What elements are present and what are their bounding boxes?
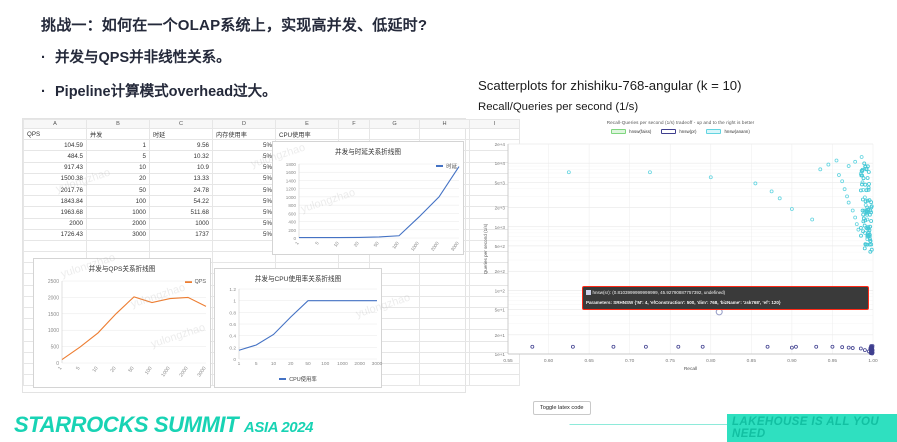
table-cell[interactable]: 5% xyxy=(213,140,276,151)
chart-cpu-legend-label: CPU使用率 xyxy=(289,375,317,383)
table-cell[interactable]: 5% xyxy=(213,151,276,162)
table-cell[interactable]: 54.22 xyxy=(150,196,213,207)
svg-text:10: 10 xyxy=(271,361,277,367)
empty-cell[interactable] xyxy=(420,263,470,274)
table-cell[interactable]: 2017.76 xyxy=(24,184,87,195)
svg-text:0.90: 0.90 xyxy=(787,358,797,364)
header-cell[interactable]: CPU使用率 xyxy=(276,129,339,140)
table-cell[interactable]: 5% xyxy=(213,162,276,173)
svg-text:1800: 1800 xyxy=(286,162,297,167)
table-cell[interactable]: 5% xyxy=(213,218,276,229)
svg-text:0.55: 0.55 xyxy=(503,358,513,364)
svg-text:1500: 1500 xyxy=(48,312,59,318)
empty-cell[interactable] xyxy=(420,330,470,341)
bullet-label-2: Pipeline计算模式overhead过大。 xyxy=(55,84,277,100)
svg-text:5: 5 xyxy=(75,366,82,372)
svg-text:20: 20 xyxy=(353,240,360,247)
svg-text:10: 10 xyxy=(92,366,100,374)
scatter-caption: Recall-Queries per second (1/s) tradeoff… xyxy=(478,120,883,125)
table-cell[interactable]: 5% xyxy=(213,229,276,240)
col-letter-e: E xyxy=(276,120,339,129)
svg-text:1200: 1200 xyxy=(286,187,297,192)
svg-text:50: 50 xyxy=(373,240,380,247)
col-letter-g: G xyxy=(370,120,420,129)
table-cell[interactable]: 917.43 xyxy=(24,162,87,173)
svg-text:1000: 1000 xyxy=(160,366,171,379)
footer-brand-main: STARROCKS SUMMIT xyxy=(14,412,238,437)
legend-swatch-icon xyxy=(611,129,626,134)
header-cell[interactable]: 内存使用率 xyxy=(213,129,276,140)
scatter-legend-item-1[interactable]: hnsw(pr) xyxy=(661,129,696,134)
scatterplot-panel: Scatterplots for zhishiku-768-angular (k… xyxy=(478,78,883,400)
table-cell[interactable]: 5% xyxy=(213,184,276,195)
svg-text:1.2: 1.2 xyxy=(229,287,236,293)
empty-cell[interactable] xyxy=(420,296,470,307)
chart-latency: 并发与时延关系折线图 时延 02004006008001000120014001… xyxy=(272,141,464,255)
svg-text:1: 1 xyxy=(238,361,241,367)
column-letter-row: A B C D E F G H I xyxy=(24,120,520,129)
svg-text:5: 5 xyxy=(314,240,320,245)
svg-text:0.8: 0.8 xyxy=(229,310,236,316)
svg-text:0.4: 0.4 xyxy=(229,334,236,340)
svg-text:0.70: 0.70 xyxy=(625,358,635,364)
empty-cell[interactable] xyxy=(420,375,470,386)
table-cell[interactable]: 484.5 xyxy=(24,151,87,162)
svg-text:100: 100 xyxy=(391,240,400,250)
svg-text:500: 500 xyxy=(51,345,60,351)
table-cell[interactable]: 1000 xyxy=(87,207,150,218)
footer-brand-sub: ASIA 2024 xyxy=(244,419,313,436)
svg-text:0.60: 0.60 xyxy=(544,358,554,364)
table-cell[interactable]: 5 xyxy=(87,151,150,162)
tooltip-line-2: Parameters: SRHNSW {'M': 4, 'efConstruct… xyxy=(586,298,865,308)
svg-text:3000: 3000 xyxy=(450,240,460,252)
svg-text:0.6: 0.6 xyxy=(229,322,236,328)
bullet-marker-icon: · xyxy=(41,84,55,100)
table-cell[interactable]: 10.32 xyxy=(150,151,213,162)
svg-text:5e+3: 5e+3 xyxy=(495,180,506,185)
table-cell[interactable]: 2000 xyxy=(87,218,150,229)
legend-swatch-icon xyxy=(706,129,721,134)
scatter-plot[interactable]: 2e+41e+45e+32e+31e+35e+22e+21e+25e+12e+1… xyxy=(478,138,883,378)
table-cell[interactable]: 10.9 xyxy=(150,162,213,173)
tooltip-line-1: hnsw(sr): (0.8103999999999999, 45.927908… xyxy=(586,288,865,298)
svg-text:800: 800 xyxy=(288,203,296,208)
header-cell[interactable]: QPS xyxy=(24,129,87,140)
bullet-item-2: ·Pipeline计算模式overhead过大。 xyxy=(41,80,277,101)
scatter-legend-item-2[interactable]: hnsw(anann) xyxy=(706,129,749,134)
empty-cell[interactable] xyxy=(420,341,470,352)
chart-qps-title: 并发与QPS关系折线图 xyxy=(34,263,210,273)
svg-text:0.80: 0.80 xyxy=(706,358,716,364)
svg-text:1: 1 xyxy=(294,240,300,245)
table-cell[interactable]: 10 xyxy=(87,162,150,173)
svg-text:2000: 2000 xyxy=(354,361,365,367)
table-cell[interactable]: 5% xyxy=(213,196,276,207)
svg-text:2500: 2500 xyxy=(48,279,59,285)
chart-cpu: 并发与CPU使用率关系折线图 00.20.40.60.811.215102050… xyxy=(214,268,382,388)
empty-cell[interactable] xyxy=(150,240,213,251)
svg-text:0.65: 0.65 xyxy=(584,358,594,364)
svg-text:1600: 1600 xyxy=(286,170,297,175)
table-cell[interactable]: 1 xyxy=(87,140,150,151)
empty-cell[interactable] xyxy=(420,308,470,319)
svg-text:Queries per second (1/s): Queries per second (1/s) xyxy=(483,223,488,274)
svg-text:2e+1: 2e+1 xyxy=(495,333,506,338)
svg-text:1e+3: 1e+3 xyxy=(495,225,506,230)
chart-cpu-plot: 00.20.40.60.811.215102050100100020003000 xyxy=(215,285,383,373)
svg-text:5e+2: 5e+2 xyxy=(495,244,506,249)
table-cell[interactable]: 50 xyxy=(87,184,150,195)
svg-text:1: 1 xyxy=(233,299,236,305)
svg-text:Recall: Recall xyxy=(684,366,697,372)
chart-latency-plot: 0200400600800100012001400160018001510205… xyxy=(273,160,465,252)
empty-cell[interactable] xyxy=(87,240,150,251)
svg-text:100: 100 xyxy=(321,361,329,367)
svg-text:2e+3: 2e+3 xyxy=(495,206,506,211)
tooltip-series: hnsw(sr): xyxy=(593,290,612,295)
table-cell[interactable]: 5% xyxy=(213,173,276,184)
scatter-legend-label-1: hnsw(pr) xyxy=(679,129,696,134)
svg-text:200: 200 xyxy=(288,228,296,233)
table-cell[interactable]: 5% xyxy=(213,207,276,218)
col-letter-d: D xyxy=(213,120,276,129)
table-cell[interactable]: 1500.38 xyxy=(24,173,87,184)
svg-text:2e+2: 2e+2 xyxy=(495,269,506,274)
col-letter-f: F xyxy=(339,120,370,129)
table-cell[interactable]: 1963.68 xyxy=(24,207,87,218)
table-cell[interactable]: 20 xyxy=(87,173,150,184)
svg-text:2000: 2000 xyxy=(48,295,59,301)
tooltip-point: (0.8103999999999999, 45.92790887757392, … xyxy=(612,290,725,295)
svg-text:3000: 3000 xyxy=(372,361,383,367)
svg-text:1000: 1000 xyxy=(286,195,297,200)
table-cell[interactable]: 13.33 xyxy=(150,173,213,184)
scatter-point[interactable] xyxy=(870,348,873,351)
table-cell[interactable]: 2000 xyxy=(24,218,87,229)
svg-text:2e+4: 2e+4 xyxy=(495,142,506,147)
col-letter-h: H xyxy=(420,120,470,129)
legend-swatch-icon xyxy=(661,129,676,134)
svg-text:2000: 2000 xyxy=(178,366,189,379)
empty-cell[interactable] xyxy=(339,129,370,140)
chart-qps: 并发与QPS关系折线图 QPS 050010001500200025001510… xyxy=(33,258,211,388)
svg-text:50: 50 xyxy=(128,366,136,374)
svg-text:100: 100 xyxy=(144,366,154,376)
empty-cell[interactable] xyxy=(420,285,470,296)
scatter-tooltip: hnsw(sr): (0.8103999999999999, 45.927908… xyxy=(582,286,869,310)
tooltip-swatch-icon xyxy=(586,290,591,295)
svg-text:1e+2: 1e+2 xyxy=(495,288,506,293)
scatter-legend: hnsw(faiss) hnsw(pr) hnsw(anann) xyxy=(478,129,883,134)
table-cell[interactable]: 511.68 xyxy=(150,207,213,218)
chart-cpu-legend: CPU使用率 xyxy=(215,375,381,383)
scatter-plot-wrap: 2e+41e+45e+32e+31e+35e+22e+21e+25e+12e+1… xyxy=(478,138,883,383)
svg-text:400: 400 xyxy=(288,220,296,225)
table-header-row: QPS并发时延内存使用率CPU使用率 xyxy=(24,129,520,140)
table-cell[interactable]: 1726.43 xyxy=(24,229,87,240)
scatter-legend-item-0[interactable]: hnsw(faiss) xyxy=(611,129,651,134)
empty-cell[interactable] xyxy=(420,129,470,140)
bullet-label-1: 并发与QPS并非线性关系。 xyxy=(55,50,231,66)
header-cell[interactable]: 时延 xyxy=(150,129,213,140)
chart-latency-title: 并发与时延关系折线图 xyxy=(273,146,463,156)
svg-text:2000: 2000 xyxy=(430,240,440,252)
svg-text:10: 10 xyxy=(333,240,340,247)
bullet-item-1: ·并发与QPS并非线性关系。 xyxy=(41,46,231,67)
svg-text:0.2: 0.2 xyxy=(229,345,236,351)
table-cell[interactable]: 24.78 xyxy=(150,184,213,195)
svg-text:600: 600 xyxy=(288,211,296,216)
col-letter-c: C xyxy=(150,120,213,129)
header-cell[interactable]: 并发 xyxy=(87,129,150,140)
svg-text:1: 1 xyxy=(57,366,64,372)
col-letter-b: B xyxy=(87,120,150,129)
table-cell[interactable]: 1737 xyxy=(150,229,213,240)
table-cell[interactable]: 3000 xyxy=(87,229,150,240)
svg-text:0.85: 0.85 xyxy=(747,358,757,364)
empty-cell[interactable] xyxy=(420,363,470,374)
scatter-subtitle: Recall/Queries per second (1/s) xyxy=(478,101,883,113)
svg-text:5e+1: 5e+1 xyxy=(495,308,506,313)
empty-cell[interactable] xyxy=(420,274,470,285)
bullet-marker-icon: · xyxy=(41,50,55,66)
table-cell[interactable]: 1843.84 xyxy=(24,196,87,207)
chart-qps-plot: 0500100015002000250015102050100100020003… xyxy=(34,277,212,385)
empty-cell[interactable] xyxy=(24,240,87,251)
empty-cell[interactable] xyxy=(420,352,470,363)
svg-text:20: 20 xyxy=(110,366,118,374)
svg-text:0.75: 0.75 xyxy=(666,358,676,364)
table-cell[interactable]: 9.56 xyxy=(150,140,213,151)
scatter-legend-label-2: hnsw(anann) xyxy=(724,129,749,134)
svg-text:5: 5 xyxy=(255,361,258,367)
table-cell[interactable]: 100 xyxy=(87,196,150,207)
table-cell[interactable]: 104.59 xyxy=(24,140,87,151)
svg-text:1e+1: 1e+1 xyxy=(495,352,506,357)
page-title: 挑战一：如何在一个OLAP系统上，实现高并发、低延时? xyxy=(41,14,427,35)
svg-text:0.95: 0.95 xyxy=(828,358,838,364)
svg-text:1e+4: 1e+4 xyxy=(495,161,506,166)
chart-cpu-title: 并发与CPU使用率关系折线图 xyxy=(215,273,381,283)
svg-text:0: 0 xyxy=(233,357,236,363)
svg-text:3000: 3000 xyxy=(196,366,207,379)
empty-cell[interactable] xyxy=(213,240,276,251)
empty-cell[interactable] xyxy=(213,252,276,263)
svg-text:1000: 1000 xyxy=(48,328,59,334)
scatter-title: Scatterplots for zhishiku-768-angular (k… xyxy=(478,78,883,93)
table-cell[interactable]: 1000 xyxy=(150,218,213,229)
svg-text:1000: 1000 xyxy=(337,361,348,367)
svg-text:1400: 1400 xyxy=(286,178,297,183)
col-letter-a: A xyxy=(24,120,87,129)
scatter-legend-label-0: hnsw(faiss) xyxy=(629,129,651,134)
svg-text:50: 50 xyxy=(305,361,311,367)
empty-cell[interactable] xyxy=(370,129,420,140)
svg-text:1000: 1000 xyxy=(410,240,420,252)
svg-text:20: 20 xyxy=(288,361,294,367)
legend-swatch-icon xyxy=(279,378,286,380)
footer: STARROCKS SUMMIT ASIA 2024 LAKEHOUSE IS … xyxy=(0,410,897,438)
empty-cell[interactable] xyxy=(420,319,470,330)
svg-text:1.00: 1.00 xyxy=(868,358,878,364)
